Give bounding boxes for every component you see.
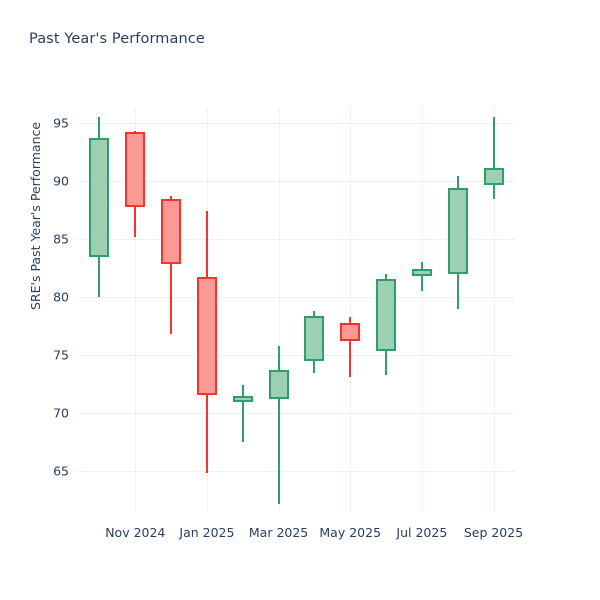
- y-axis-tick-label: 80: [53, 290, 78, 305]
- x-axis-tick-label: Sep 2025: [464, 525, 523, 540]
- y-axis-tick-label: 75: [53, 348, 78, 363]
- page-title: Past Year's Performance: [29, 31, 205, 47]
- y-axis-tick-label: 65: [53, 464, 78, 479]
- y-axis-title: SRE's Past Year's Performance: [28, 122, 43, 310]
- y-axis-tick-label: 85: [53, 232, 78, 247]
- y-axis-tick-label: 70: [53, 406, 78, 421]
- x-axis-tick-label: Jan 2025: [179, 525, 234, 540]
- y-axis-tick-label: 90: [53, 174, 78, 189]
- x-axis-tick-label: Nov 2024: [105, 525, 165, 540]
- candle-wick: [493, 117, 495, 198]
- x-axis-tick-label: May 2025: [319, 525, 381, 540]
- x-axis-tick-label: Jul 2025: [396, 525, 447, 540]
- plot-area: 65707580859095 Nov 2024Jan 2025Mar 2025M…: [78, 108, 515, 512]
- x-axis-tick-label: Mar 2025: [249, 525, 308, 540]
- y-axis-tick-label: 95: [53, 116, 78, 131]
- candlestick[interactable]: [78, 108, 515, 512]
- candlestick-chart: Past Year's Performance SRE's Past Year'…: [0, 0, 600, 600]
- candle-body: [484, 168, 504, 184]
